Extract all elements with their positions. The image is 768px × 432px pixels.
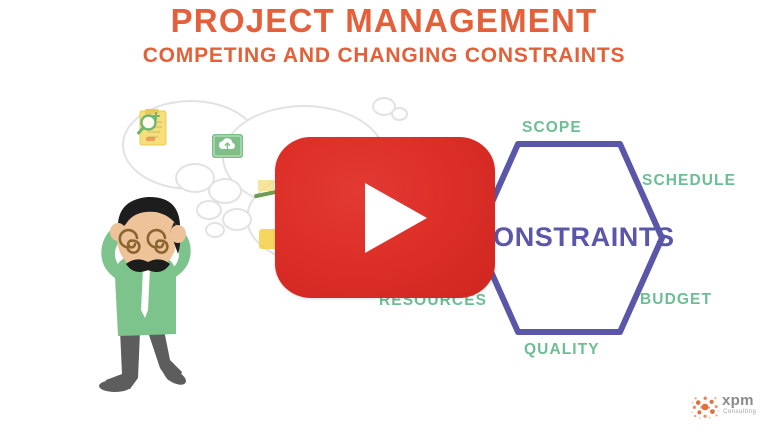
- logo-wordmark: xpm: [722, 393, 754, 408]
- logo-tagline: Consulting: [723, 409, 756, 415]
- hexagon-label-scope: SCOPE: [522, 119, 582, 137]
- play-triangle-icon: [365, 183, 427, 253]
- page-subtitle: COMPETING AND CHANGING CONSTRAINTS: [0, 44, 768, 68]
- hexagon-center-label: CONSTRAINTS: [473, 222, 675, 253]
- hexagon-label-schedule: SCHEDULE: [642, 172, 736, 190]
- hexagon-label-budget: BUDGET: [640, 291, 712, 309]
- play-button[interactable]: [275, 137, 495, 298]
- xpm-logo-mark: [690, 392, 720, 422]
- hexagon-label-quality: QUALITY: [524, 341, 600, 359]
- xpm-logo: xpm Consulting: [690, 392, 762, 424]
- thought-bubble-tiny-2: [391, 107, 408, 121]
- page-title: PROJECT MANAGEMENT: [0, 2, 768, 40]
- cloud-upload-icon: [212, 134, 243, 158]
- video-thumbnail-canvas: PROJECT MANAGEMENT COMPETING AND CHANGIN…: [0, 0, 768, 432]
- stressed-businessman-illustration: [82, 182, 232, 394]
- clipboard-search-icon: [136, 108, 170, 148]
